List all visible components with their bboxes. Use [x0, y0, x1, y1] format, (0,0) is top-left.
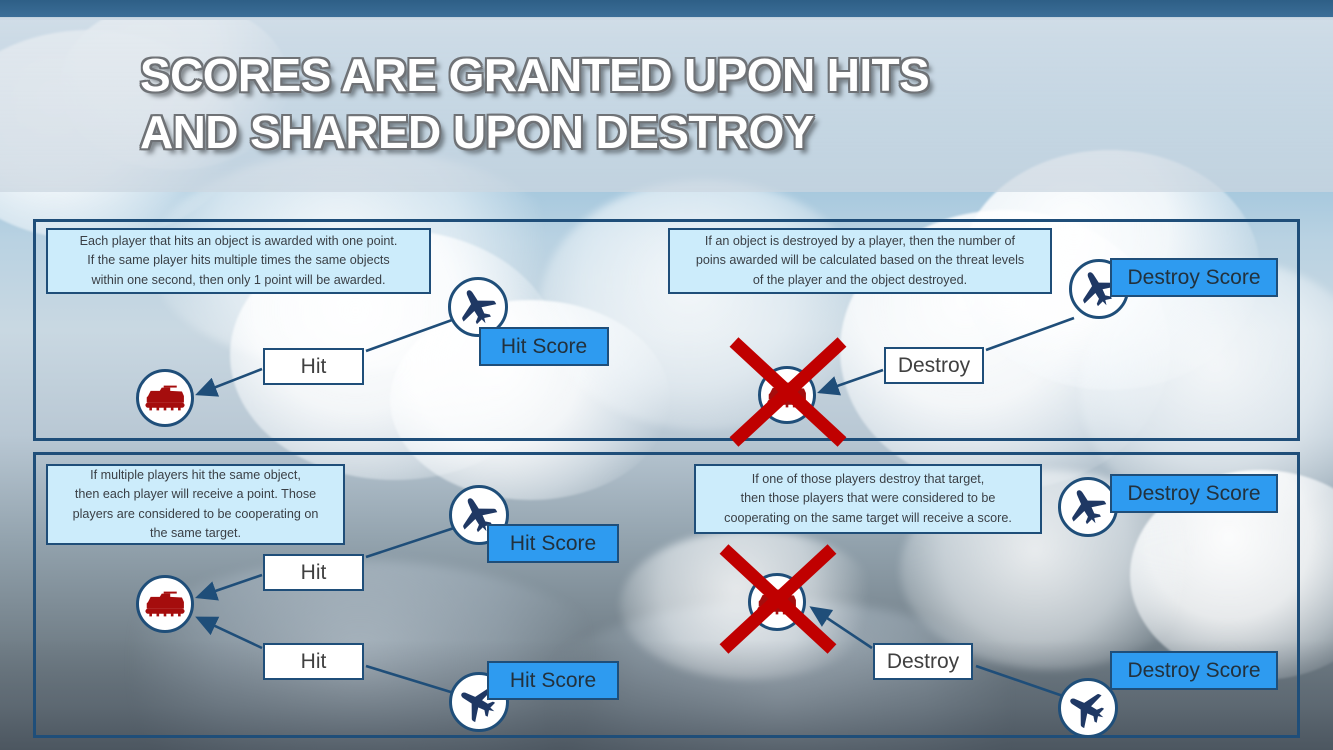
hit-score-badge[interactable]: Hit Score	[479, 327, 609, 366]
destroy-score-badge-upper[interactable]: Destroy Score	[1110, 474, 1278, 513]
note-destroy-shared: If one of those players destroy that tar…	[694, 464, 1042, 534]
note-destroy-single: If an object is destroyed by a player, t…	[668, 228, 1052, 294]
destroy-label[interactable]: Destroy	[873, 643, 973, 680]
hit-label-lower[interactable]: Hit	[263, 643, 364, 680]
tank-destroyed-icon[interactable]	[748, 573, 806, 631]
note-hit-shared: If multiple players hit the same object,…	[46, 464, 345, 545]
jet-icon[interactable]	[1058, 477, 1118, 537]
hit-label-upper[interactable]: Hit	[263, 554, 364, 591]
hit-score-badge-lower[interactable]: Hit Score	[487, 661, 619, 700]
slide-canvas: SCORES ARE GRANTED UPON HITS AND SHARED …	[0, 0, 1333, 750]
hit-score-badge-upper[interactable]: Hit Score	[487, 524, 619, 563]
tank-destroyed-icon[interactable]	[758, 366, 816, 424]
jet-icon[interactable]	[1058, 678, 1118, 738]
page-title: SCORES ARE GRANTED UPON HITS AND SHARED …	[140, 47, 1200, 161]
destroy-score-badge[interactable]: Destroy Score	[1110, 258, 1278, 297]
note-hit-single: Each player that hits an object is award…	[46, 228, 431, 294]
destroy-label[interactable]: Destroy	[884, 347, 984, 384]
tank-icon[interactable]	[136, 575, 194, 633]
tank-icon[interactable]	[136, 369, 194, 427]
destroy-score-badge-lower[interactable]: Destroy Score	[1110, 651, 1278, 690]
hit-label[interactable]: Hit	[263, 348, 364, 385]
